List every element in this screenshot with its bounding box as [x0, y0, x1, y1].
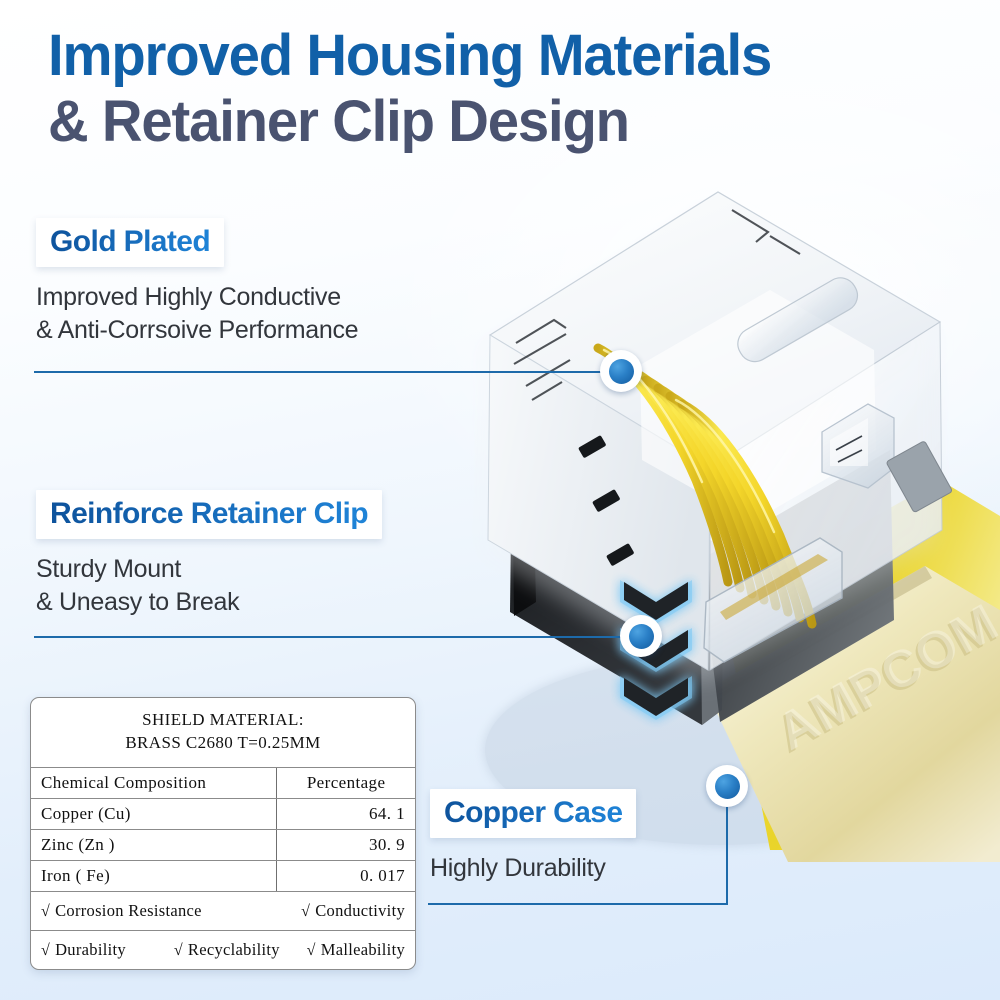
property-durability: √Durability — [41, 940, 174, 960]
callout-retainer-clip-description: Sturdy Mount & Uneasy to Break — [36, 553, 506, 619]
infographic-canvas: AMPCOM AMPCOM — [0, 0, 1000, 1000]
check-icon: √ — [307, 942, 316, 959]
callout-copper-case: Copper Case Highly Durability — [430, 789, 760, 885]
spec-table-title: SHIELD MATERIAL: BRASS C2680 T=0.25MM — [31, 698, 415, 767]
callout-gold-plated-heading: Gold Plated — [50, 225, 210, 259]
check-icon: √ — [174, 942, 183, 959]
product-image: AMPCOM AMPCOM — [470, 150, 1000, 870]
spec-table-title-row: SHIELD MATERIAL: BRASS C2680 T=0.25MM — [31, 698, 415, 767]
callout-gold-plated-description: Improved Highly Conductive & Anti-Corrso… — [36, 281, 496, 347]
table-row: Copper (Cu) 64. 1 — [31, 798, 415, 829]
title-line-1: Improved Housing Materials — [48, 26, 940, 86]
check-icon: √ — [41, 942, 50, 959]
callout-gold-plated-badge: Gold Plated — [36, 218, 224, 267]
callout-gold-plated: Gold Plated Improved Highly Conductive &… — [36, 218, 496, 347]
leader-line-copper-case-h — [428, 903, 728, 905]
spec-row-zinc-name: Zinc (Zn ) — [31, 829, 277, 860]
callout-retainer-clip-badge: Reinforce Retainer Clip — [36, 490, 382, 539]
check-icon: √ — [301, 903, 310, 920]
marker-gold-plated[interactable] — [600, 350, 642, 392]
spec-row-zinc-value: 30. 9 — [277, 829, 415, 860]
callout-copper-case-badge: Copper Case — [430, 789, 636, 838]
callout-copper-case-description: Highly Durability — [430, 852, 760, 885]
leader-line-copper-case-v — [726, 800, 728, 905]
property-recyclability: √Recyclability — [174, 940, 307, 960]
callout-copper-case-heading: Copper Case — [444, 796, 622, 830]
table-row: Iron ( Fe) 0. 017 — [31, 860, 415, 891]
table-row: Zinc (Zn ) 30. 9 — [31, 829, 415, 860]
spec-properties-row-2: √Durability √Recyclability √Malleability — [31, 930, 415, 969]
spec-table-header-row: Chemical Composition Percentage — [31, 767, 415, 798]
leader-line-retainer-clip — [34, 636, 646, 638]
property-conductivity: √Conductivity — [301, 901, 405, 921]
callout-retainer-clip-heading: Reinforce Retainer Clip — [50, 497, 368, 531]
check-icon: √ — [41, 903, 50, 920]
callout-retainer-clip: Reinforce Retainer Clip Sturdy Mount & U… — [36, 490, 506, 619]
spec-row-iron-name: Iron ( Fe) — [31, 860, 277, 891]
shield-material-spec-table: SHIELD MATERIAL: BRASS C2680 T=0.25MM Ch… — [30, 697, 416, 970]
spec-row-copper-name: Copper (Cu) — [31, 798, 277, 829]
leader-line-gold-plated — [34, 371, 622, 373]
spec-column-composition: Chemical Composition — [31, 767, 277, 798]
property-malleability: √Malleability — [307, 940, 405, 960]
property-corrosion-resistance: √Corrosion Resistance — [41, 901, 301, 921]
marker-retainer-clip[interactable] — [620, 615, 662, 657]
spec-column-percentage: Percentage — [277, 767, 415, 798]
title-line-2: & Retainer Clip Design — [48, 92, 940, 152]
page-title: Improved Housing Materials & Retainer Cl… — [48, 26, 968, 151]
spec-row-copper-value: 64. 1 — [277, 798, 415, 829]
marker-copper-case[interactable] — [706, 765, 748, 807]
spec-properties-row-1: √Corrosion Resistance √Conductivity — [31, 891, 415, 930]
spec-row-iron-value: 0. 017 — [277, 860, 415, 891]
